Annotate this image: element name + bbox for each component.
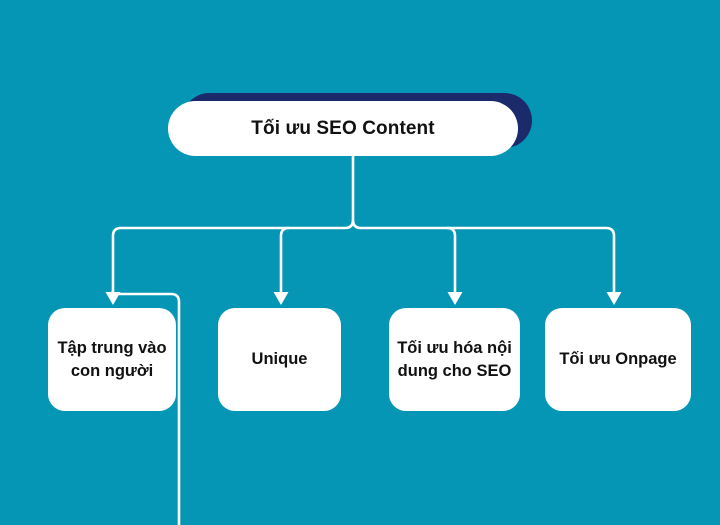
child-node-4-line-1: Tối ưu Onpage bbox=[559, 348, 676, 370]
connector-drop-child-1 bbox=[113, 228, 345, 293]
child-node-1-line-2: con người bbox=[57, 360, 166, 382]
child-node-1-label: Tập trung vào con người bbox=[57, 337, 166, 381]
child-node-3-line-2: dung cho SEO bbox=[397, 360, 512, 382]
root-node[interactable]: Tối ưu SEO Content bbox=[168, 101, 518, 156]
connector-layer bbox=[0, 0, 720, 525]
child-node-3[interactable]: Tối ưu hóa nội dung cho SEO bbox=[389, 308, 520, 411]
child-node-4[interactable]: Tối ưu Onpage bbox=[545, 308, 691, 411]
child-node-4-label: Tối ưu Onpage bbox=[559, 348, 676, 370]
connector-to-child-3 bbox=[447, 228, 455, 294]
connector-root-stem-right bbox=[353, 220, 361, 228]
child-node-2[interactable]: Unique bbox=[218, 308, 341, 411]
arrowhead-child-4 bbox=[607, 292, 622, 305]
connector-to-child-2 bbox=[281, 228, 289, 294]
root-node-label: Tối ưu SEO Content bbox=[251, 116, 434, 141]
child-node-3-line-1: Tối ưu hóa nội bbox=[397, 337, 512, 359]
child-node-1-line-1: Tập trung vào bbox=[57, 337, 166, 359]
connector-to-child-4 bbox=[361, 228, 614, 294]
connector-root-stem bbox=[345, 156, 353, 228]
child-node-1[interactable]: Tập trung vào con người bbox=[48, 308, 176, 411]
arrowhead-child-1 bbox=[106, 292, 121, 305]
child-node-3-label: Tối ưu hóa nội dung cho SEO bbox=[397, 337, 512, 381]
arrowhead-child-2 bbox=[274, 292, 289, 305]
child-node-2-label: Unique bbox=[252, 348, 308, 370]
arrowhead-child-3 bbox=[448, 292, 463, 305]
child-node-2-line-1: Unique bbox=[252, 348, 308, 370]
seo-content-mindmap: Tối ưu SEO Content Tập trung vào con ngư… bbox=[0, 0, 720, 525]
